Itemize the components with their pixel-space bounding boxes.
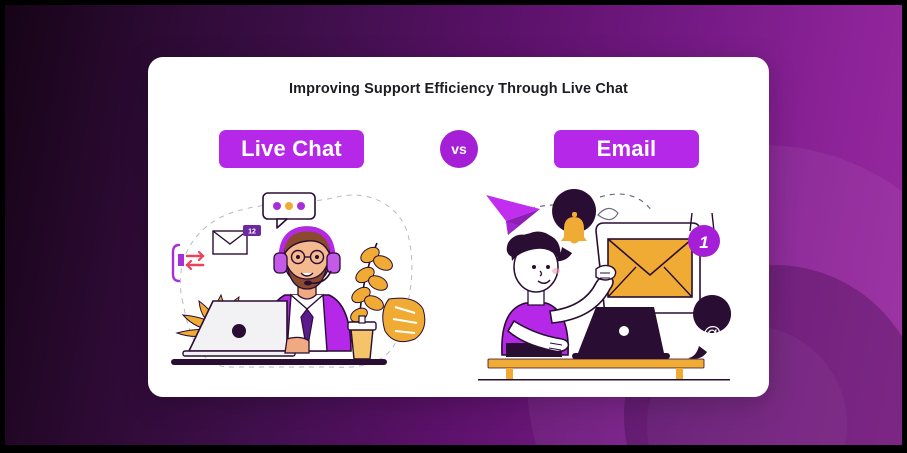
content-card: Improving Support Efficiency Through Liv… — [148, 57, 769, 397]
at-symbol-label: @ — [702, 324, 721, 345]
live-chat-pill[interactable]: Live Chat — [219, 130, 364, 168]
laptop — [572, 307, 670, 359]
chat-bubble-typing-dots — [263, 193, 315, 228]
desk-edge — [171, 359, 187, 365]
comparison-pill-row: Live Chat vs Email — [148, 130, 769, 174]
page-title: Improving Support Efficiency Through Liv… — [148, 81, 769, 97]
laptop — [183, 301, 295, 356]
envelope-icon: 12 — [213, 225, 261, 254]
desk-surface — [177, 359, 387, 365]
badge-count-label: 1 — [699, 233, 708, 252]
dashed-cloud-curl — [598, 208, 618, 219]
screenshot-root: Improving Support Efficiency Through Liv… — [0, 0, 907, 453]
badge-count: 1 — [688, 213, 720, 257]
email-pill[interactable]: Email — [554, 130, 699, 168]
live-chat-illustration: 12 — [165, 183, 445, 383]
email-illustration: 1 @ — [478, 183, 758, 383]
coffee-cup — [348, 316, 376, 359]
agent-hand — [285, 337, 309, 353]
desk — [478, 359, 730, 381]
paper-plane-icon — [486, 195, 540, 235]
gradient-background: Improving Support Efficiency Through Liv… — [5, 5, 902, 445]
svg-text:12: 12 — [248, 229, 256, 236]
vs-badge: vs — [440, 130, 478, 168]
